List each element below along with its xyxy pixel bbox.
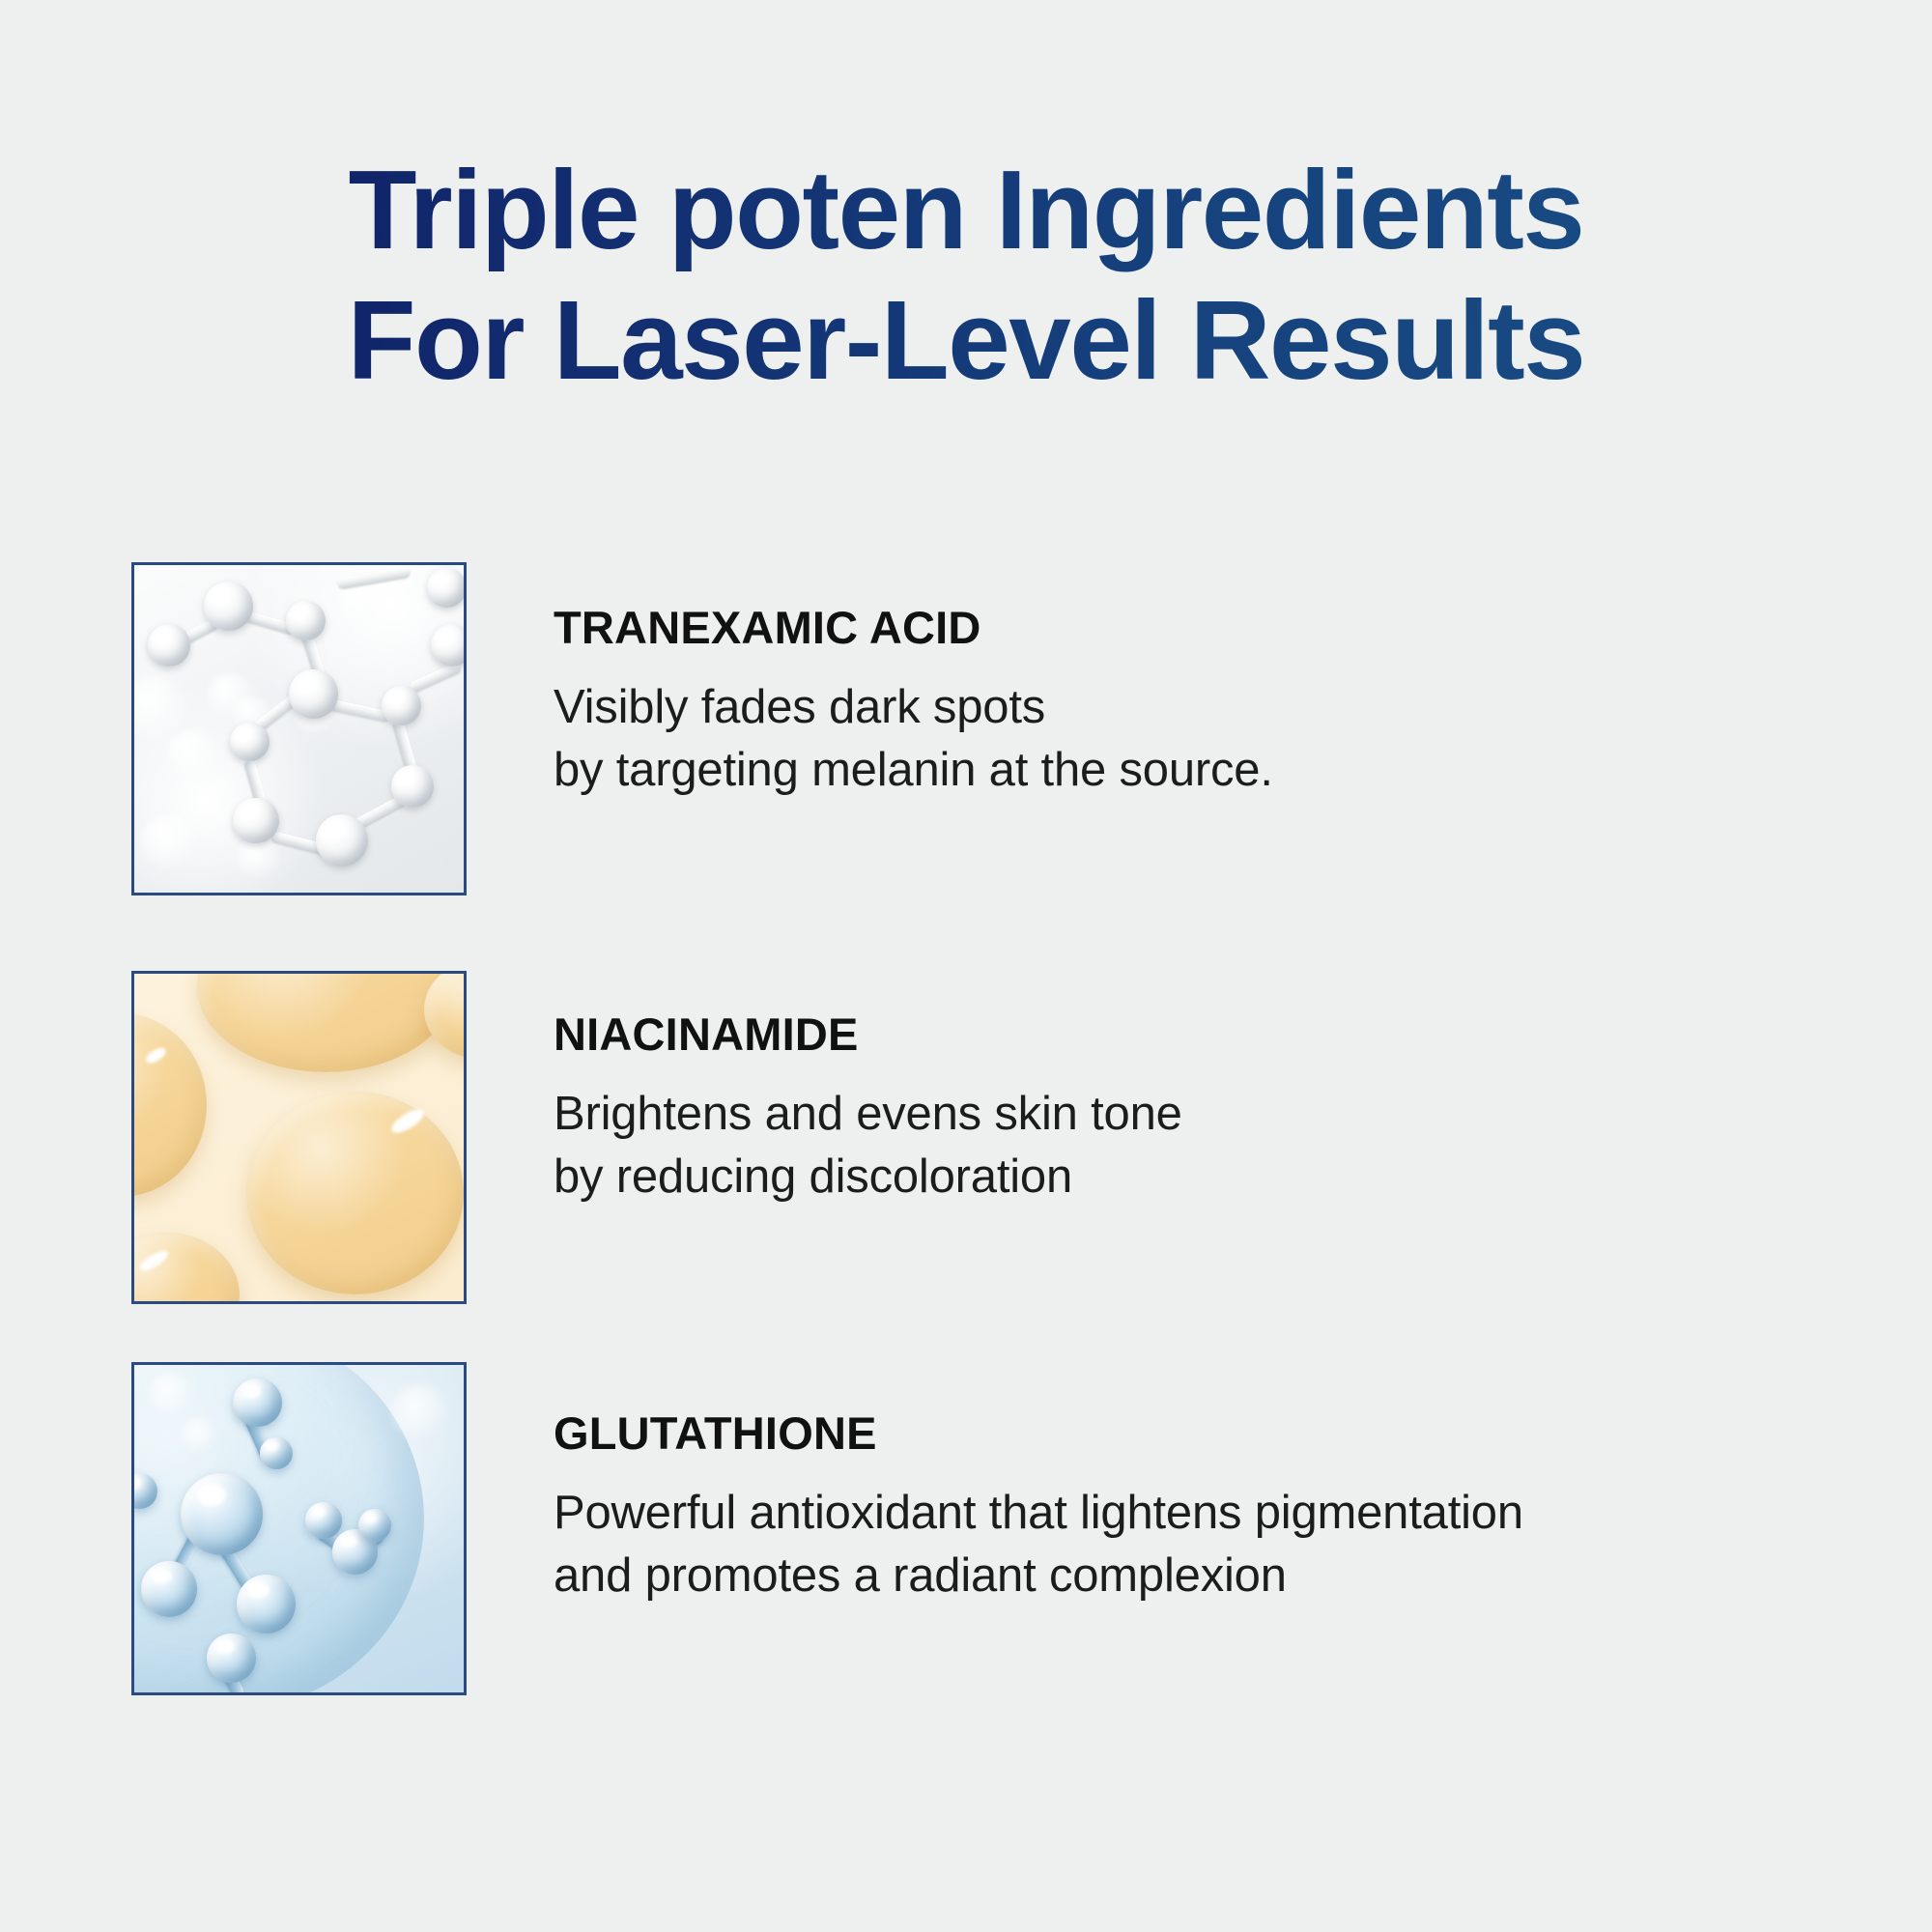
ingredient-item-niacinamide: NIACINAMIDE Brightens and evens skin ton… [131,971,1861,1304]
ingredient-description: Visibly fades dark spots by targeting me… [554,676,1861,801]
clear-molecule-lattice-icon [134,565,464,893]
page-title-line-2: For Laser-Level Results [0,275,1932,406]
page-title: Triple poten Ingredients For Laser-Level… [0,145,1932,405]
ingredient-description: Powerful antioxidant that lightens pigme… [554,1482,1861,1606]
ingredient-copy-tranexamic-acid: TRANEXAMIC ACID Visibly fades dark spots… [467,562,1861,801]
golden-serum-droplets-icon [134,974,464,1301]
ingredient-description: Brightens and evens skin tone by reducin… [554,1083,1861,1207]
ingredient-name: GLUTATHIONE [554,1410,1861,1456]
ingredient-name: TRANEXAMIC ACID [554,605,1861,650]
ingredient-infographic: Triple poten Ingredients For Laser-Level… [0,0,1932,1932]
ingredient-copy-niacinamide: NIACINAMIDE Brightens and evens skin ton… [467,971,1861,1207]
ingredient-list: TRANEXAMIC ACID Visibly fades dark spots… [131,562,1861,1695]
ingredient-item-glutathione: GLUTATHIONE Powerful antioxidant that li… [131,1362,1861,1695]
ingredient-image-niacinamide [131,971,467,1304]
page-title-line-1: Triple poten Ingredients [0,145,1932,275]
ingredient-item-tranexamic-acid: TRANEXAMIC ACID Visibly fades dark spots… [131,562,1861,895]
blue-molecules-droplet-icon [134,1365,464,1692]
ingredient-name: NIACINAMIDE [554,1011,1861,1057]
ingredient-image-tranexamic-acid [131,562,467,895]
ingredient-image-glutathione [131,1362,467,1695]
ingredient-copy-glutathione: GLUTATHIONE Powerful antioxidant that li… [467,1362,1861,1606]
